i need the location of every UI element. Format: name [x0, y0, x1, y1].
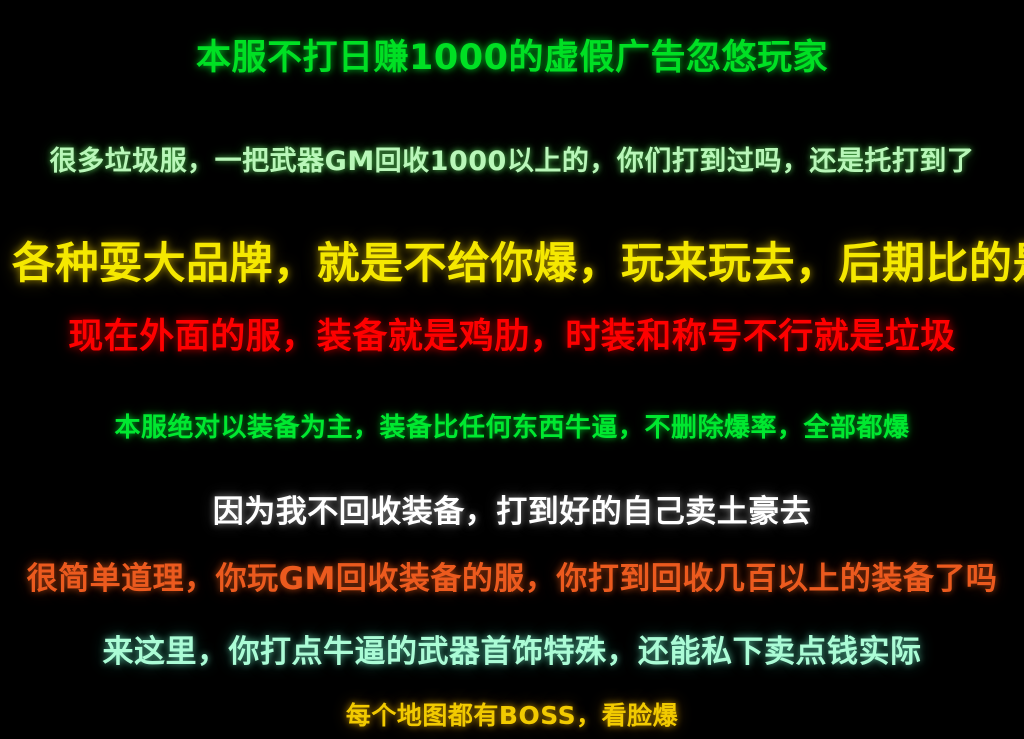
banner-line-emphasis-red: 现在外面的服，装备就是鸡肋，时装和称号不行就是垃圾 [0, 320, 1024, 355]
banner-line-subheading: 很多垃圾服，一把武器GM回收1000以上的，你们打到过吗，还是托打到了 [0, 148, 1024, 175]
announcement-banner: 本服不打日赚1000的虚假广告忽悠玩家 很多垃圾服，一把武器GM回收1000以上… [0, 0, 1024, 739]
banner-line-white: 因为我不回收装备，打到好的自己卖土豪去 [0, 497, 1024, 528]
banner-line-footer-gold: 每个地图都有BOSS，看脸爆 [0, 703, 1024, 728]
banner-line-mint: 来这里，你打点牛逼的武器首饰特殊，还能私下卖点钱实际 [0, 637, 1024, 668]
banner-headline: 本服不打日赚1000的虚假广告忽悠玩家 [0, 41, 1024, 76]
banner-line-orange: 很简单道理，你玩GM回收装备的服，你打到回收几百以上的装备了吗 [0, 564, 1024, 595]
banner-line-green: 本服绝对以装备为主，装备比任何东西牛逼，不删除爆率，全部都爆 [0, 415, 1024, 441]
banner-line-emphasis-yellow: 各种耍大品牌，就是不给你爆，玩来玩去，后期比的是称号和时装 [12, 243, 1024, 286]
